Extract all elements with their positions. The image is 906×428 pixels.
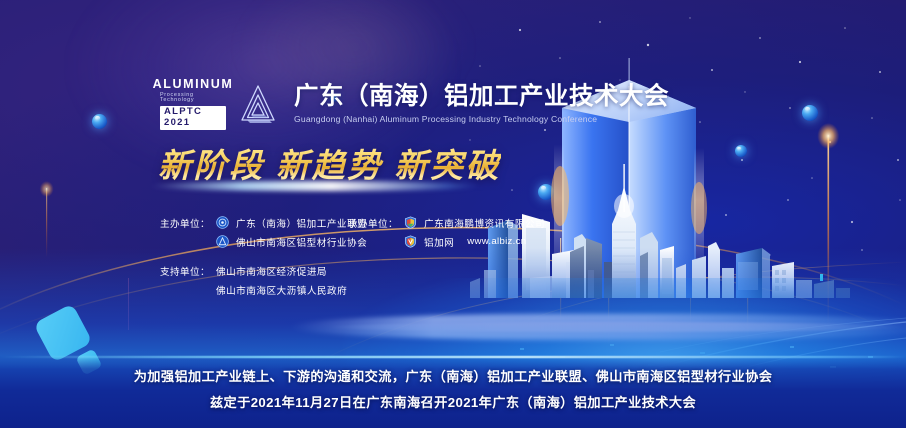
support-row-2: 佛山市南海区大沥镇人民政府 bbox=[160, 280, 347, 299]
host-row-2: 佛山市南海区铝型材行业协会 bbox=[160, 232, 367, 251]
host-label: 主办单位： bbox=[160, 216, 216, 230]
logo-alptc-badge: ALPTC 2021 bbox=[160, 106, 226, 130]
support-label: 支持单位： bbox=[160, 264, 216, 278]
slogan-underglow bbox=[150, 181, 480, 191]
undertaker-website-link[interactable]: www.albiz.cn bbox=[467, 236, 526, 247]
support-row-1: 支持单位： 佛山市南海区经济促进局 bbox=[160, 261, 347, 280]
bottom-announcement-bar: 为加强铝加工产业链上、下游的沟通和交流，广东（南海）铝加工产业联盟、佛山市南海区… bbox=[0, 356, 906, 428]
undertaker-name-1: 广东南海鹏博资讯有限公司 bbox=[424, 216, 545, 230]
conference-title-block: 广东（南海）铝加工产业技术大会 Guangdong (Nanhai) Alumi… bbox=[294, 84, 669, 124]
decor-sphere-1 bbox=[92, 114, 107, 129]
undertaker-row-2: 铝加网 www.albiz.cn bbox=[348, 232, 545, 251]
undertaker-organizers-block: 承办单位： 广东南海鹏博资讯有限公司 铝加网 www.albiz.cn bbox=[348, 213, 545, 251]
triangle-a-mark-icon bbox=[238, 82, 278, 126]
slogan-text: 新阶段 新趋势 新突破 bbox=[158, 139, 501, 187]
conference-poster: ALUMINUM Processing Technology ALPTC 202… bbox=[0, 0, 906, 428]
page-subtitle-en: Guangdong (Nanhai) Aluminum Processing I… bbox=[294, 114, 669, 124]
circle-target-icon bbox=[216, 216, 229, 229]
bottom-divider-glow bbox=[0, 356, 906, 358]
announcement-line-1: 为加强铝加工产业链上、下游的沟通和交流，广东（南海）铝加工产业联盟、佛山市南海区… bbox=[0, 370, 906, 384]
support-name-1: 佛山市南海区经济促进局 bbox=[216, 264, 327, 278]
circle-a-icon bbox=[216, 235, 229, 248]
host-row-1: 主办单位： 广东（南海）铝加工产业联盟 bbox=[160, 213, 367, 232]
announcement-line-2: 兹定于2021年11月27日在广东南海召开2021年广东（南海）铝加工产业技术大… bbox=[0, 396, 906, 410]
shield-v-icon bbox=[404, 235, 417, 248]
support-organizers-block: 支持单位： 佛山市南海区经济促进局 佛山市南海区大沥镇人民政府 bbox=[160, 261, 347, 299]
host-organizers-block: 主办单位： 广东（南海）铝加工产业联盟 佛山市南海区铝型材行业协会 bbox=[160, 213, 367, 251]
support-name-2: 佛山市南海区大沥镇人民政府 bbox=[216, 283, 347, 297]
undertaker-row-1: 承办单位： 广东南海鹏博资讯有限公司 bbox=[348, 213, 545, 232]
logo-processing-tech-word: Processing Technology bbox=[160, 93, 226, 104]
undertaker-label: 承办单位： bbox=[348, 216, 404, 230]
alptc-logo: ALUMINUM Processing Technology ALPTC 202… bbox=[160, 82, 226, 126]
shield-color-icon bbox=[404, 216, 417, 229]
conference-header: ALUMINUM Processing Technology ALPTC 202… bbox=[160, 82, 669, 126]
logo-aluminum-word: ALUMINUM bbox=[153, 78, 234, 91]
bottom-announcement-text: 为加强铝加工产业链上、下游的沟通和交流，广东（南海）铝加工产业联盟、佛山市南海区… bbox=[0, 370, 906, 410]
page-title: 广东（南海）铝加工产业技术大会 bbox=[294, 84, 669, 110]
undertaker-name-2: 铝加网 bbox=[424, 235, 454, 249]
